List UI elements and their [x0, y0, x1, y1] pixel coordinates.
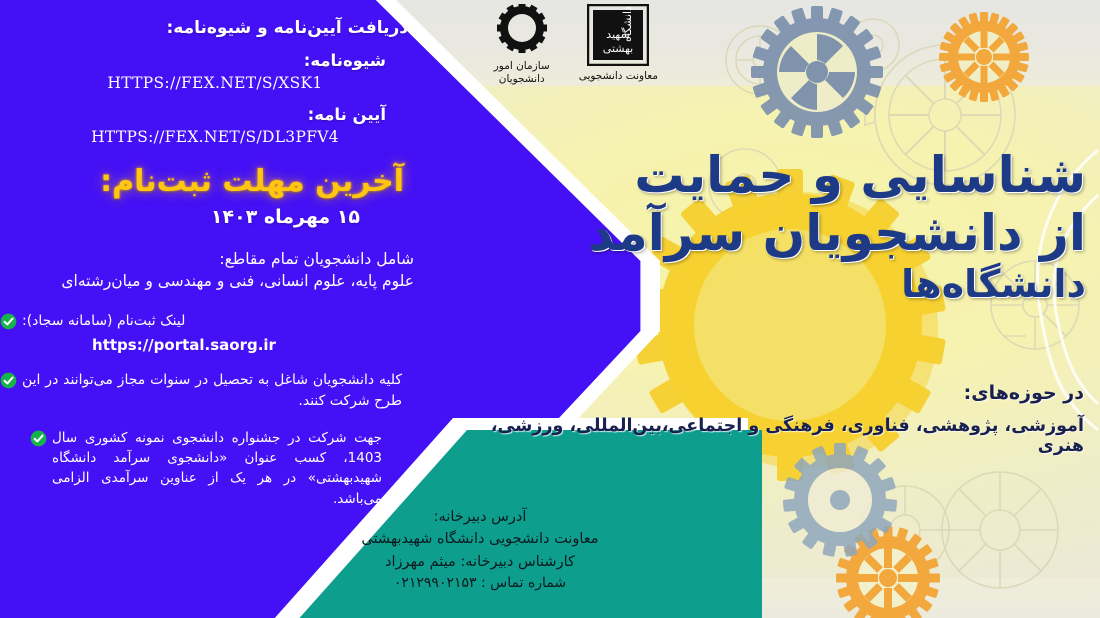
svg-text:بهشتی: بهشتی [603, 42, 633, 55]
check-circle-icon [0, 372, 17, 393]
logo-caption-student-affairs: سازمان امور دانشجویان [494, 60, 550, 86]
svg-text:شهید: شهید [607, 28, 630, 41]
method-url[interactable]: HTTPS://FEX.NET/S/XSK1 [0, 74, 390, 92]
registration-portal-url[interactable]: https://portal.saorg.ir [0, 336, 426, 354]
fields-block: در حوزه‌های: آموزشی، پژوهشی، فناوری، فره… [444, 382, 1084, 456]
gear-blue-pinwheel [751, 6, 883, 138]
secretariat-address-label: آدرس دبیرخانه: [300, 506, 660, 528]
logo-row: دانشگاه شهید بهشتی معاونت دانشجویی [418, 4, 658, 112]
list-item: جهت شرکت در جشنواره دانشجوی نمونه کشوری … [30, 428, 418, 509]
regulation-label: آیین نامه: [0, 105, 386, 124]
fields-value: آموزشی، پژوهشی، فناوری، فرهنگی و اجتماعی… [444, 416, 1084, 456]
includes-block: شامل دانشجویان تمام مقاطع: علوم پایه، عل… [0, 248, 414, 293]
logo-student-affairs: سازمان امور دانشجویان [491, 4, 553, 86]
check-circle-icon [0, 313, 17, 334]
list-item-text: لینک ثبت‌نام (سامانه سجاد): [22, 311, 185, 332]
shahid-beheshti-logo-icon: دانشگاه شهید بهشتی [587, 4, 649, 66]
list-item: لینک ثبت‌نام (سامانه سجاد): [0, 311, 418, 334]
list-item-text: جهت شرکت در جشنواره دانشجوی نمونه کشوری … [52, 428, 382, 509]
deadline-label: آخرین مهلت ثبت‌نام: [0, 164, 404, 199]
regulation-url[interactable]: HTTPS://FEX.NET/S/DL3PFV4 [0, 128, 390, 146]
title-line-1: شناسایی و حمایت [566, 146, 1086, 204]
check-circle-icon [30, 430, 47, 451]
fields-label: در حوزه‌های: [444, 382, 1084, 404]
list-item: کلیه دانشجویان شاغل به تحصیل در سنوات مج… [0, 370, 418, 412]
secretariat-block: آدرس دبیرخانه: معاونت دانشجویی دانشگاه ش… [300, 506, 660, 595]
page-title: شناسایی و حمایت از دانشجویان سرآمد دانشگ… [566, 146, 1086, 306]
logo-caption-university: معاونت دانشجویی [579, 70, 658, 82]
title-line-3: دانشگاه‌ها [566, 262, 1086, 306]
includes-line-1: شامل دانشجویان تمام مقاطع: [0, 248, 414, 270]
includes-line-2: علوم پایه، علوم انسانی، فنی و مهندسی و م… [0, 270, 414, 292]
deadline-date: ۱۵ مهرماه ۱۴۰۳ [0, 206, 360, 228]
logo-shahid-beheshti-university: دانشگاه شهید بهشتی معاونت دانشجویی [579, 4, 658, 82]
list-item-text: کلیه دانشجویان شاغل به تحصیل در سنوات مج… [22, 370, 402, 412]
download-header: دریافت آیین‌نامه و شیوه‌نامه: [0, 18, 408, 38]
title-line-2: از دانشجویان سرآمد [566, 204, 1086, 262]
secretariat-address-value: معاونت دانشجویی دانشگاه شهیدبهشتی [300, 528, 660, 550]
gear-orange-small [939, 12, 1029, 102]
secretariat-expert: کارشناس دبیرخانه: میثم مهرزاد [300, 551, 660, 573]
method-label: شیوه‌نامه: [0, 51, 386, 70]
student-affairs-logo-icon [491, 4, 553, 56]
secretariat-phone: شماره تماس : ۰۲۱۲۹۹۰۲۱۵۳ [300, 573, 660, 595]
poster-root: دانشگاه شهید بهشتی معاونت دانشجویی [0, 0, 1100, 618]
